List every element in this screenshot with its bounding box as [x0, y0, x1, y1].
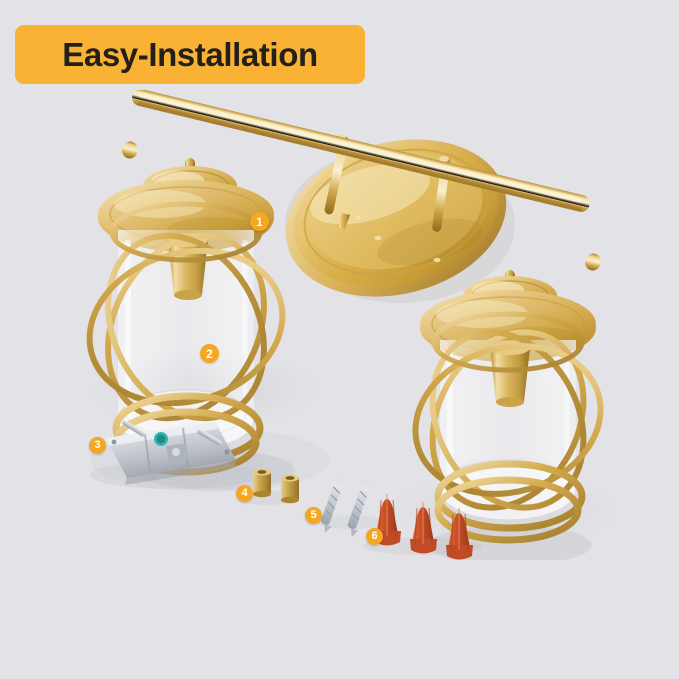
callout-badge-1: 1 — [250, 212, 269, 231]
callout-badge-5: 5 — [305, 507, 322, 524]
callout-badge-2: 2 — [200, 344, 219, 363]
page-title: Easy-Installation — [62, 36, 317, 74]
callout-badge-4: 4 — [236, 485, 253, 502]
callout-badge-6: 6 — [366, 528, 383, 545]
product-illustration — [0, 90, 679, 560]
title-banner: Easy-Installation — [15, 25, 365, 84]
callout-badge-3: 3 — [89, 437, 106, 454]
infographic-canvas: Easy-Installation — [0, 0, 679, 679]
legend: 1 Metal Lampshade 2 Glass Lampshade 3 Mo… — [0, 560, 679, 660]
